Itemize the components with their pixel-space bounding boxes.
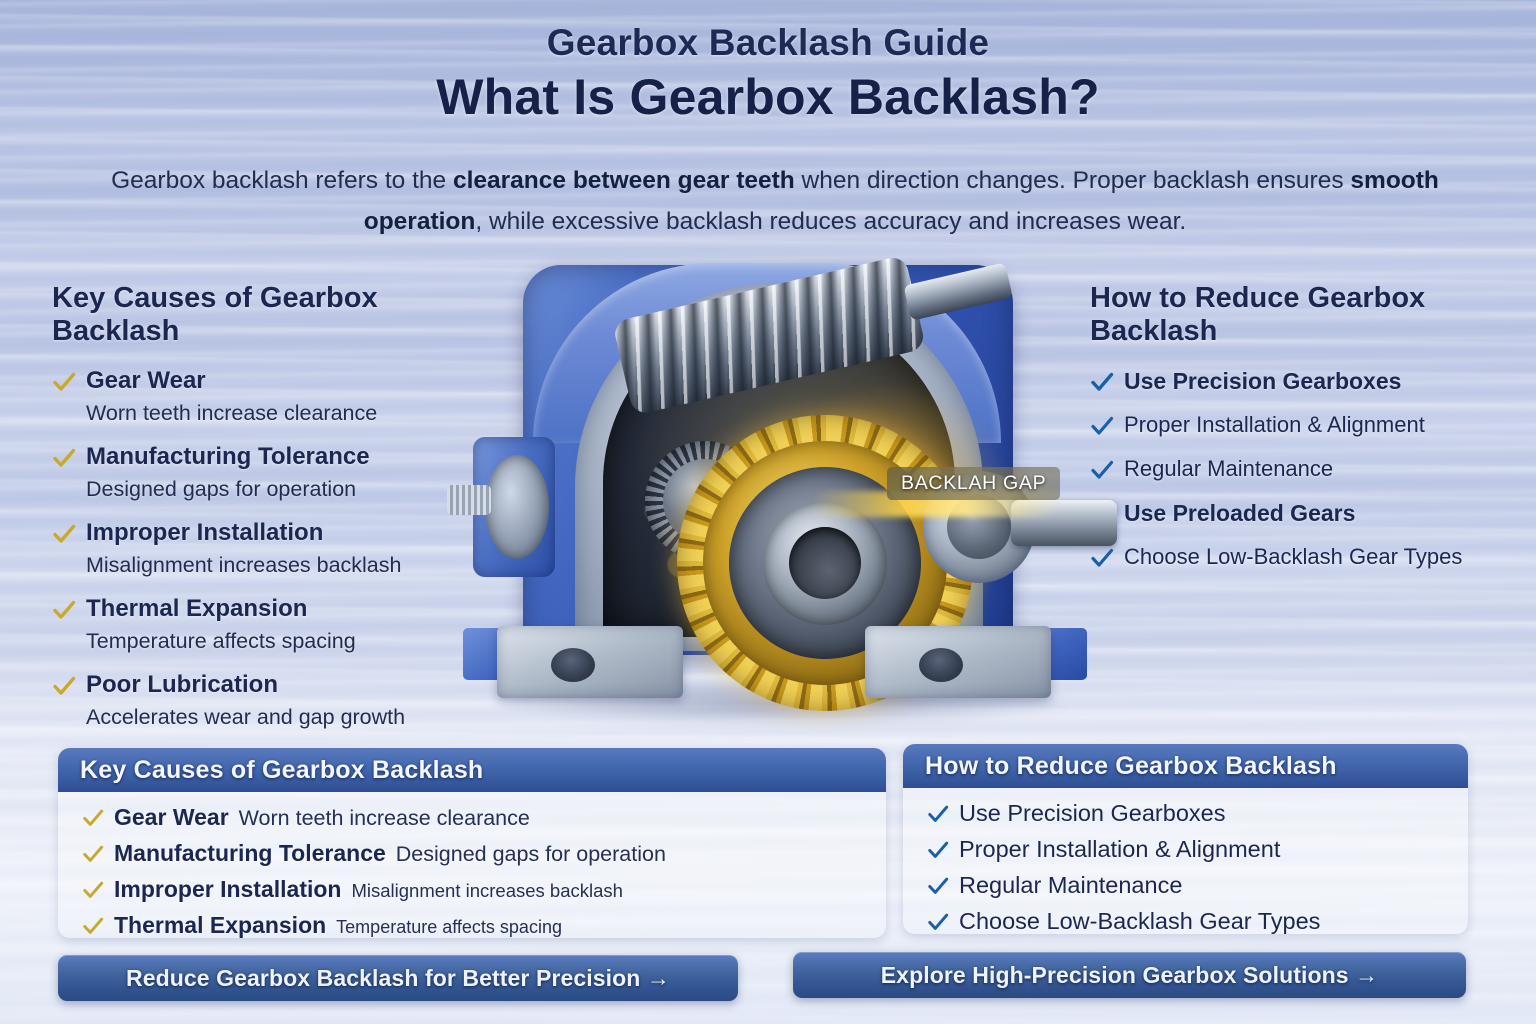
list-item: Use Preloaded Gears <box>1090 498 1520 528</box>
intro-part-1: Gearbox backlash refers to the <box>111 167 453 194</box>
row-term: Gear Wear <box>114 804 229 831</box>
cta-reduce-backlash-button[interactable]: Reduce Gearbox Backlash for Better Preci… <box>58 955 738 1001</box>
tip-term: Use Preloaded Gears <box>1124 498 1355 528</box>
check-icon <box>927 875 949 897</box>
cause-desc: Temperature affects spacing <box>86 627 482 655</box>
cause-term: Improper Installation <box>86 518 323 548</box>
row-term: Thermal Expansion <box>114 912 326 938</box>
list-item: Proper Installation & Alignment <box>1090 410 1520 440</box>
key-causes-column: Key Causes of Gearbox Backlash Gear Wear… <box>52 282 482 746</box>
intro-part-2: when direction changes. Proper backlash … <box>795 167 1351 194</box>
check-icon <box>52 446 76 470</box>
page-title: What Is Gearbox Backlash? <box>0 68 1536 126</box>
row-term: Manufacturing Tolerance <box>114 840 386 867</box>
table-row: Improper Installation Misalignment incre… <box>82 876 868 903</box>
check-icon <box>82 879 104 901</box>
list-item: Thermal Expansion <box>52 594 482 624</box>
row-term: Choose Low-Backlash Gear Types <box>959 908 1320 934</box>
row-term: Regular Maintenance <box>959 872 1182 899</box>
summary-panel-causes: Key Causes of Gearbox Backlash Gear Wear… <box>58 748 886 938</box>
row-desc: Worn teeth increase clearance <box>239 806 530 831</box>
check-icon <box>52 674 76 698</box>
list-item: Poor Lubrication <box>52 670 482 700</box>
gearbox-illustration: BACKLAH GAP <box>455 255 1115 720</box>
check-icon <box>1090 546 1114 570</box>
how-to-reduce-column: How to Reduce Gearbox Backlash Use Preci… <box>1090 282 1520 586</box>
intro-part-3: , while excessive backlash reduces accur… <box>475 208 1186 235</box>
check-icon <box>1090 414 1114 438</box>
check-icon <box>1090 370 1114 394</box>
check-icon <box>927 803 949 825</box>
row-desc: Designed gaps for operation <box>396 842 666 867</box>
intro-paragraph: Gearbox backlash refers to the clearance… <box>100 160 1450 242</box>
cause-term: Thermal Expansion <box>86 594 307 624</box>
check-icon-occluded <box>1090 502 1114 526</box>
mounting-foot-right <box>865 626 1051 698</box>
row-term: Use Precision Gearboxes <box>959 800 1225 827</box>
tip-term: Choose Low-Backlash Gear Types <box>1124 542 1462 572</box>
check-icon <box>82 843 104 865</box>
table-row: Regular Maintenance <box>927 872 1450 899</box>
table-row: Proper Installation & Alignment <box>927 836 1450 863</box>
check-icon <box>82 807 104 829</box>
row-desc: Misalignment increases backlash <box>351 880 622 902</box>
cause-term: Poor Lubrication <box>86 670 278 700</box>
backlash-gap-callout: BACKLAH GAP <box>887 467 1060 500</box>
cause-desc: Accelerates wear and gap growth <box>86 703 482 731</box>
check-icon <box>927 911 949 933</box>
check-icon <box>52 522 76 546</box>
table-row: Manufacturing Tolerance Designed gaps fo… <box>82 840 868 867</box>
tip-term: Use Precision Gearboxes <box>1124 366 1401 396</box>
list-item: Regular Maintenance <box>1090 454 1520 484</box>
list-item: Use Precision Gearboxes <box>1090 366 1520 396</box>
mounting-foot-left <box>497 626 683 698</box>
row-term: Proper Installation & Alignment <box>959 836 1280 863</box>
list-item: Gear Wear <box>52 366 482 396</box>
cause-term: Manufacturing Tolerance <box>86 442 370 472</box>
cause-term: Gear Wear <box>86 366 206 396</box>
key-causes-title: Key Causes of Gearbox Backlash <box>52 282 482 348</box>
panel-header: Key Causes of Gearbox Backlash <box>58 748 886 792</box>
check-icon <box>927 839 949 861</box>
cause-desc: Misalignment increases backlash <box>86 551 482 579</box>
how-to-reduce-title: How to Reduce Gearbox Backlash <box>1090 282 1520 348</box>
cta-explore-solutions-button[interactable]: Explore High-Precision Gearbox Solutions… <box>793 952 1466 998</box>
check-icon <box>52 370 76 394</box>
cause-desc: Designed gaps for operation <box>86 475 482 503</box>
cause-desc: Worn teeth increase clearance <box>86 399 482 427</box>
panel-header: How to Reduce Gearbox Backlash <box>903 744 1468 788</box>
table-row: Choose Low-Backlash Gear Types <box>927 908 1450 934</box>
list-item: Choose Low-Backlash Gear Types <box>1090 542 1520 572</box>
tip-term: Regular Maintenance <box>1124 454 1333 484</box>
check-icon <box>52 598 76 622</box>
check-icon <box>82 915 104 937</box>
page-kicker: Gearbox Backlash Guide <box>0 22 1536 64</box>
tip-term: Proper Installation & Alignment <box>1124 410 1425 440</box>
summary-panel-solutions: How to Reduce Gearbox Backlash Use Preci… <box>903 744 1468 934</box>
table-row: Thermal Expansion Temperature affects sp… <box>82 912 868 938</box>
check-icon <box>1090 458 1114 482</box>
list-item: Improper Installation <box>52 518 482 548</box>
row-desc: Temperature affects spacing <box>336 917 562 938</box>
row-term: Improper Installation <box>114 876 341 903</box>
table-row: Use Precision Gearboxes <box>927 800 1450 827</box>
list-item: Manufacturing Tolerance <box>52 442 482 472</box>
table-row: Gear Wear Worn teeth increase clearance <box>82 804 868 831</box>
intro-bold-1: clearance between gear teeth <box>453 167 795 194</box>
